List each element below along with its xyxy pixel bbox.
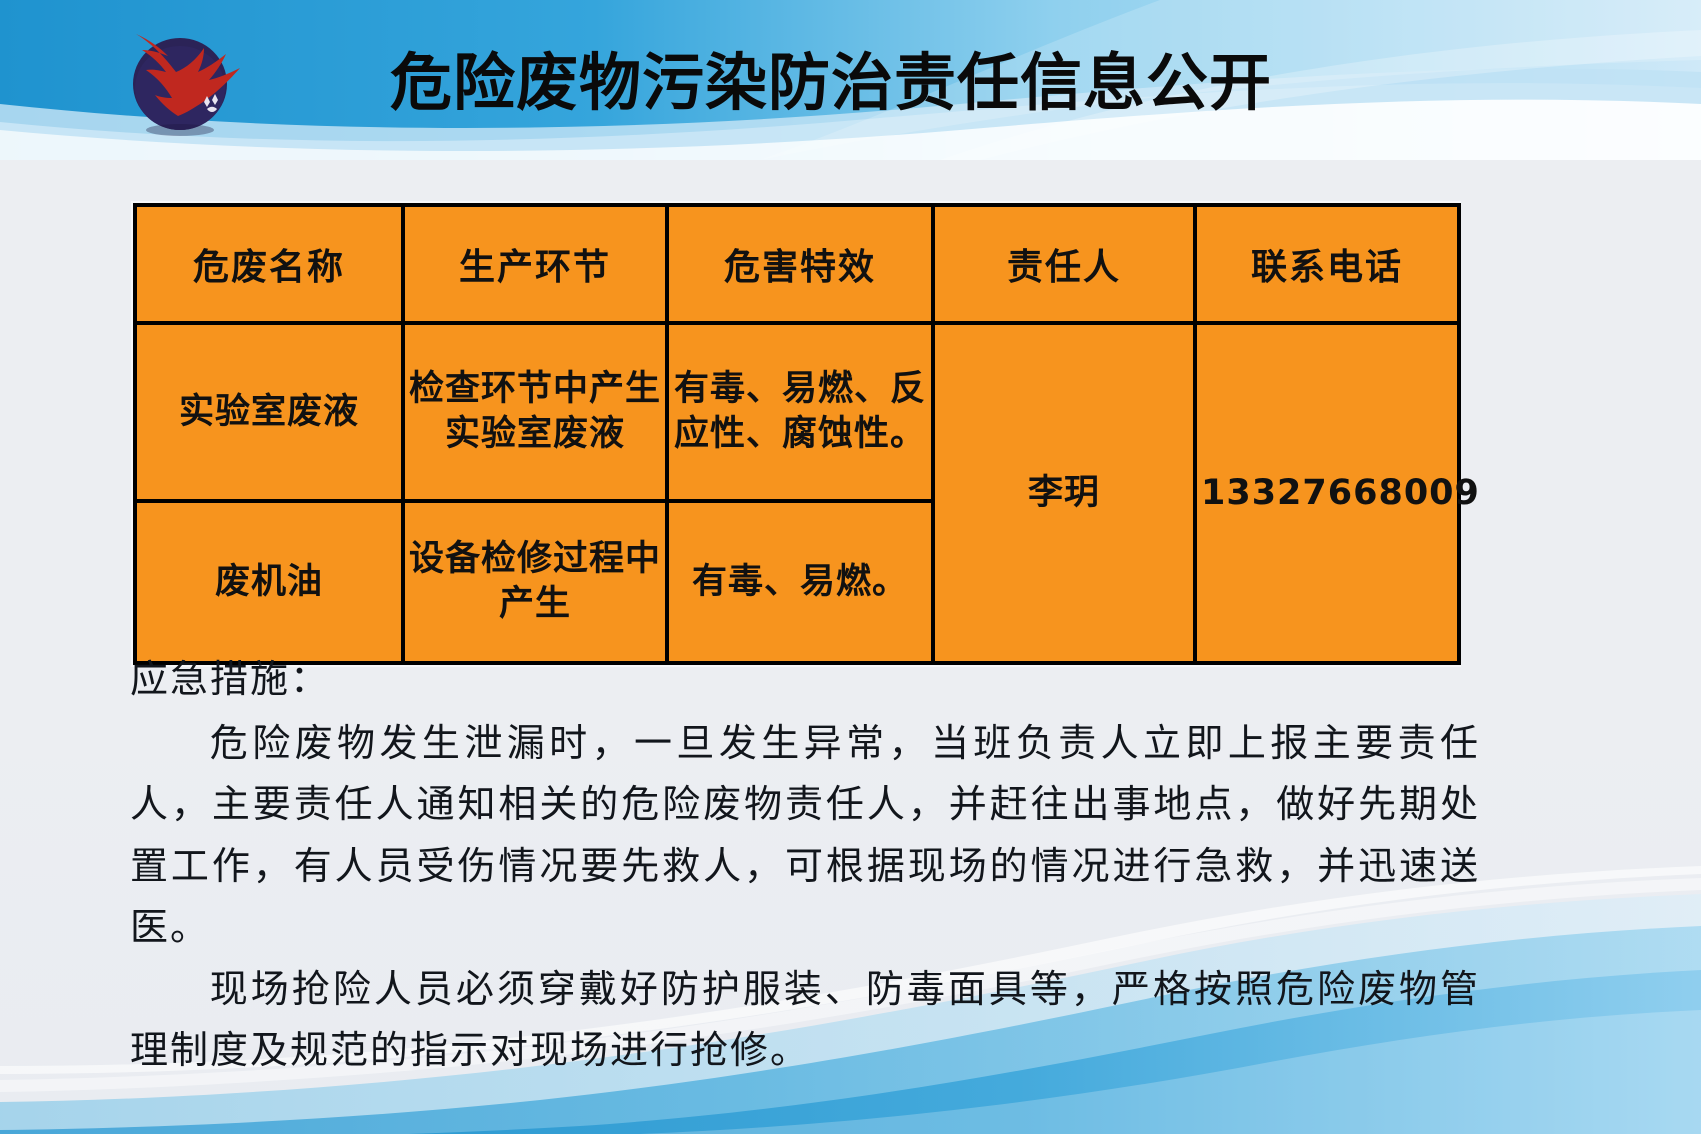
slide-canvas: 危险废物污染防治责任信息公开 危废名称 生产环节 危害特效 责任人 联系电话 实… — [0, 0, 1701, 1134]
header-hazard-property: 危害特效 — [667, 205, 933, 323]
eagle-globe-logo — [108, 18, 278, 138]
cell-contact-phone: 13327668009 — [1195, 323, 1459, 663]
header-responsible-person: 责任人 — [933, 205, 1195, 323]
emergency-paragraph-1: 危险废物发生泄漏时，一旦发生异常，当班负责人立即上报主要责任人，主要责任人通知相… — [130, 714, 1480, 960]
cell-responsible-person: 李玥 — [933, 323, 1195, 663]
hazardous-waste-table-wrapper: 危废名称 生产环节 危害特效 责任人 联系电话 实验室废液 检查环节中产生实验室… — [131, 201, 1461, 667]
emergency-heading: 应急措施： — [130, 650, 1480, 712]
header-production-stage: 生产环节 — [403, 205, 667, 323]
page-title: 危险废物污染防治责任信息公开 — [390, 52, 1272, 114]
cell-hazard-2: 有毒、易燃。 — [667, 501, 933, 663]
emergency-measures-block: 应急措施： 危险废物发生泄漏时，一旦发生异常，当班负责人立即上报主要责任人，主要… — [130, 650, 1480, 1083]
cell-production-stage-1: 检查环节中产生实验室废液 — [403, 323, 667, 501]
cell-waste-name-1: 实验室废液 — [135, 323, 403, 501]
table-header-row: 危废名称 生产环节 危害特效 责任人 联系电话 — [135, 205, 1459, 323]
cell-waste-name-2: 废机油 — [135, 501, 403, 663]
hazardous-waste-table: 危废名称 生产环节 危害特效 责任人 联系电话 实验室废液 检查环节中产生实验室… — [133, 203, 1461, 665]
table-row: 实验室废液 检查环节中产生实验室废液 有毒、易燃、反应性、腐蚀性。 李玥 133… — [135, 323, 1459, 501]
cell-production-stage-2: 设备检修过程中产生 — [403, 501, 667, 663]
header-waste-name: 危废名称 — [135, 205, 403, 323]
header-contact-phone: 联系电话 — [1195, 205, 1459, 323]
cell-hazard-1: 有毒、易燃、反应性、腐蚀性。 — [667, 323, 933, 501]
emergency-paragraph-2: 现场抢险人员必须穿戴好防护服装、防毒面具等，严格按照危险废物管理制度及规范的指示… — [130, 960, 1480, 1083]
